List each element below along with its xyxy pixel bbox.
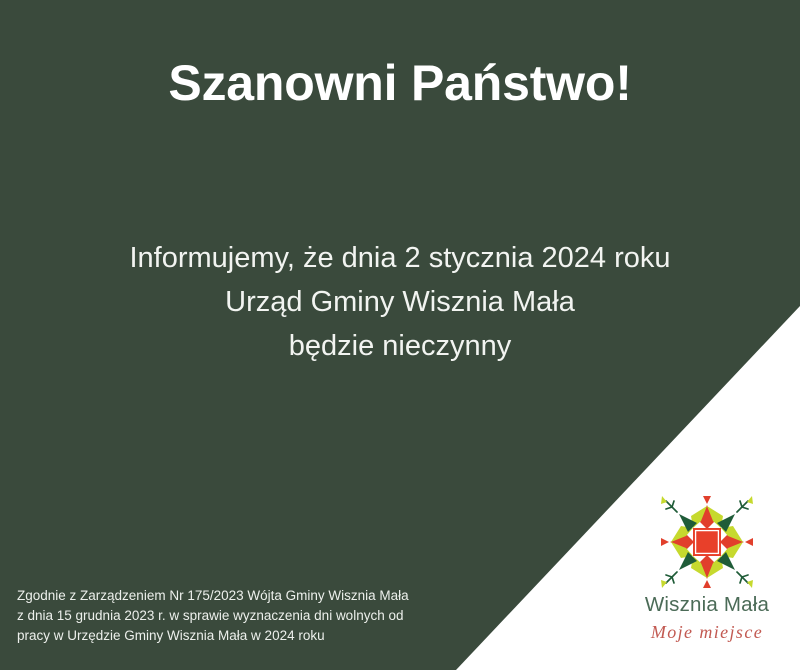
folk-star-icon bbox=[657, 492, 757, 592]
logo-tagline: Moje miejsce bbox=[618, 622, 796, 643]
announcement-line-1: Informujemy, że dnia 2 stycznia 2024 rok… bbox=[0, 236, 800, 280]
legal-footnote-line-3: pracy w Urzędzie Gminy Wisznia Mała w 20… bbox=[17, 626, 477, 646]
logo-municipality-name: Wisznia Mała bbox=[618, 593, 796, 617]
legal-footnote-line-2: z dnia 15 grudnia 2023 r. w sprawie wyzn… bbox=[17, 606, 477, 626]
announcement-body: Informujemy, że dnia 2 stycznia 2024 rok… bbox=[0, 236, 800, 368]
page-title: Szanowni Państwo! bbox=[0, 55, 800, 113]
poster: Szanowni Państwo! Informujemy, że dnia 2… bbox=[0, 0, 800, 670]
announcement-line-2: Urząd Gminy Wisznia Mała bbox=[0, 280, 800, 324]
municipality-logo: Wisznia Mała Moje miejsce bbox=[618, 492, 796, 657]
announcement-line-3: będzie nieczynny bbox=[0, 324, 800, 368]
legal-footnote-line-1: Zgodnie z Zarządzeniem Nr 175/2023 Wójta… bbox=[17, 586, 477, 606]
legal-footnote: Zgodnie z Zarządzeniem Nr 175/2023 Wójta… bbox=[17, 586, 477, 646]
